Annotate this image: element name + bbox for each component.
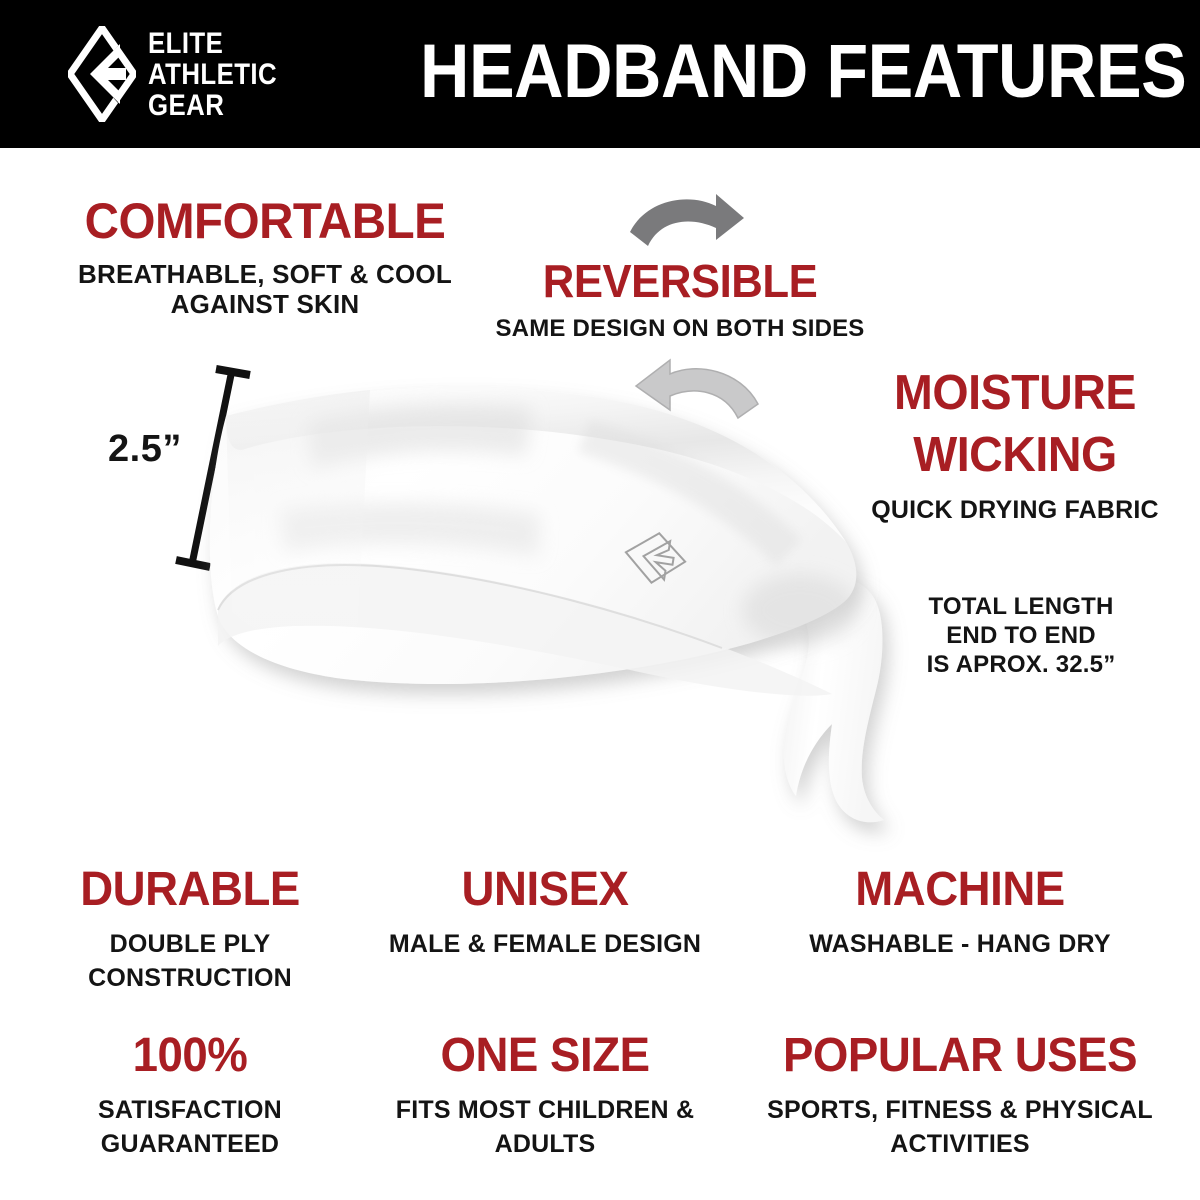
white-tie-headband-image [160,360,950,860]
feature-title: ONE SIZE [369,1032,721,1080]
feature-subtitle: SAME DESIGN ON BOTH SIDES [470,315,890,342]
feature-reversible: REVERSIBLE SAME DESIGN ON BOTH SIDES [470,258,890,342]
feature-subtitle: WASHABLE - HANG DRY [750,927,1170,961]
feature-title: POPULAR USES [751,1032,1169,1080]
feature-subtitle: DOUBLE PLY CONSTRUCTION [20,927,360,995]
brand-line-1: ELITE [148,28,277,59]
feature-title: UNISEX [369,866,721,914]
brand-logo: ELITE ATHLETIC GEAR [68,26,298,122]
feature-title: DURABLE [29,866,352,914]
feature-subtitle: SPORTS, FITNESS & PHYSICAL ACTIVITIES [740,1093,1180,1161]
feature-subtitle: BREATHABLE, SOFT & COOL AGAINST SKIN [30,260,500,319]
feature-popular-uses: POPULAR USES SPORTS, FITNESS & PHYSICAL … [740,1032,1180,1161]
feature-one-size: ONE SIZE FITS MOST CHILDREN & ADULTS [360,1032,730,1161]
feature-subtitle: SATISFACTION GUARANTEED [20,1093,360,1161]
feature-comfortable: COMFORTABLE BREATHABLE, SOFT & COOL AGAI… [30,196,500,319]
feature-title: 100% [29,1032,352,1080]
feature-unisex: UNISEX MALE & FEMALE DESIGN [360,866,730,961]
feature-satisfaction: 100% SATISFACTION GUARANTEED [20,1032,360,1161]
brand-line-2: ATHLETIC [148,59,277,90]
elite-athletic-gear-logo-icon [68,26,136,122]
brand-wordmark: ELITE ATHLETIC GEAR [148,28,277,121]
brand-line-3: GEAR [148,90,277,121]
feature-machine-washable: MACHINE WASHABLE - HANG DRY [750,866,1170,961]
feature-subtitle: MALE & FEMALE DESIGN [360,927,730,961]
page-title: HEADBAND FEATURES [420,28,1104,116]
infographic-page: ELITE ATHLETIC GEAR HEADBAND FEATURES CO… [0,0,1200,1200]
feature-subtitle: FITS MOST CHILDREN & ADULTS [360,1093,730,1161]
feature-title: MACHINE [761,866,1160,914]
feature-durable: DURABLE DOUBLE PLY CONSTRUCTION [20,866,360,995]
curved-arrow-right-icon [624,192,748,260]
feature-title: REVERSIBLE [481,258,880,304]
feature-title: COMFORTABLE [42,196,489,246]
header-bar: ELITE ATHLETIC GEAR HEADBAND FEATURES [0,0,1200,148]
